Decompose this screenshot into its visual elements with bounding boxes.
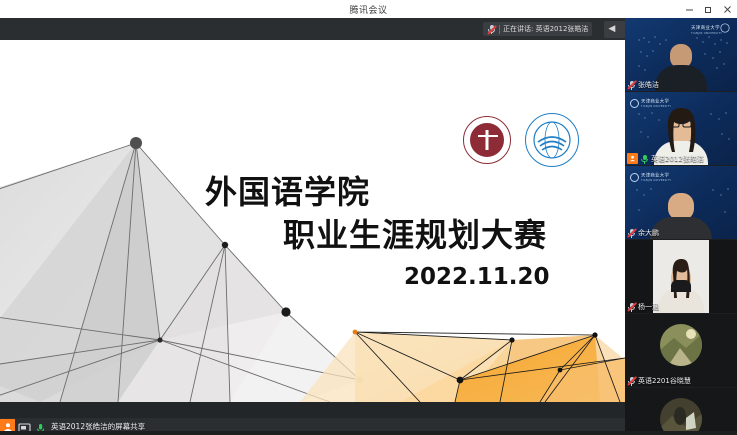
node-dot [130, 137, 142, 149]
participant-tile[interactable]: 天津商业大学 TIANJIN UNIVERSITY 张皓洁 [625, 18, 737, 91]
participant-name: 张皓洁 [638, 80, 659, 90]
university-logo-blue [525, 113, 579, 167]
participant-tile[interactable]: 天津商业大学 TIANJIN UNIVERSITY 余大鹏 [625, 166, 737, 239]
window-controls [680, 0, 737, 18]
participant-hair [669, 258, 693, 298]
mic-muted-icon[interactable] [627, 376, 636, 386]
svg-text:天津商业大学: 天津商业大学 [691, 24, 720, 31]
window-bottom-edge [0, 431, 737, 435]
participant-hair [661, 106, 701, 152]
participant-tile[interactable]: 天津商业大学 TIANJIN UNIVERSITY [625, 92, 737, 165]
participant-label: 杨一涵 [625, 300, 663, 313]
restore-button[interactable] [699, 0, 718, 18]
svg-text:TIANJIN UNIVERSITY: TIANJIN UNIVERSITY [691, 31, 722, 35]
presentation-slide: 外国语学院 职业生涯规划大赛 2022.11.20 [0, 40, 625, 402]
speaking-participant-name: 正在讲话: 英语2012张皓洁 [503, 24, 588, 34]
participant-label: 张皓洁 [625, 78, 663, 91]
mic-unmuted-icon[interactable] [640, 154, 649, 164]
participant-name: 英语2012张皓洁 [651, 154, 704, 164]
university-logo-red [463, 116, 511, 164]
pill-divider [499, 25, 500, 34]
slide-geometry-artwork [0, 40, 625, 402]
participant-tile[interactable]: 外语2112文佳怡 [625, 388, 737, 435]
participant-label: 英语2012张皓洁 [625, 152, 708, 165]
close-button[interactable] [718, 0, 737, 18]
title-bar: 腾讯会议 [0, 0, 737, 18]
mic-muted-icon [487, 24, 496, 34]
participant-name: 杨一涵 [638, 302, 659, 312]
mic-muted-icon[interactable] [627, 80, 636, 90]
participant-tile[interactable]: 杨一涵 [625, 240, 737, 313]
window-title: 腾讯会议 [349, 3, 387, 16]
avatar [660, 324, 702, 366]
svg-text:天津商业大学: 天津商业大学 [641, 98, 669, 105]
participant-label: 余大鹏 [625, 226, 663, 239]
participant-name: 英语2201谷晓慧 [638, 376, 691, 386]
mic-muted-icon[interactable] [627, 302, 636, 312]
participant-name: 余大鹏 [638, 228, 659, 238]
mic-muted-icon[interactable] [627, 228, 636, 238]
shared-screen-stage[interactable]: 外国语学院 职业生涯规划大赛 2022.11.20 [0, 40, 625, 417]
participant-label: 英语2201谷晓慧 [625, 374, 695, 387]
participant-avatar-view [625, 388, 737, 435]
minimize-button[interactable] [680, 0, 699, 18]
collapse-sidebar-icon[interactable]: ◀ [608, 25, 615, 34]
avatar [660, 398, 702, 435]
participant-glasses [670, 120, 692, 128]
speaking-indicator[interactable]: 正在讲话: 英语2012张皓洁 [483, 22, 592, 36]
svg-text:天津商业大学: 天津商业大学 [641, 172, 669, 179]
meeting-window: 腾讯会议 正在讲话: 英语201 [0, 0, 737, 435]
host-badge-icon [627, 153, 638, 164]
virtual-background-org-badge: 天津商业大学 TIANJIN UNIVERSITY [630, 171, 671, 183]
participant-video-sidebar[interactable]: 天津商业大学 TIANJIN UNIVERSITY 张皓洁 [625, 18, 737, 435]
participant-tile[interactable]: 英语2201谷晓慧 [625, 314, 737, 387]
virtual-background-org-badge: 天津商业大学 TIANJIN UNIVERSITY [689, 23, 731, 39]
svg-text:TIANJIN UNIVERSITY: TIANJIN UNIVERSITY [641, 178, 671, 182]
